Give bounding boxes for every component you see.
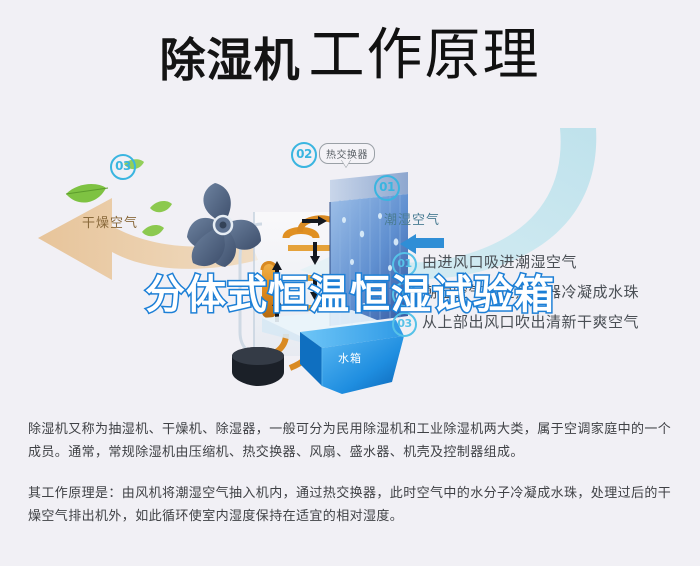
legend-item-01: 01 由进风口吸进潮湿空气 — [392, 249, 692, 279]
page-title: 除湿机工作原理 — [0, 28, 700, 84]
legend-text-01: 由进风口吸进潮湿空气 — [422, 251, 577, 272]
leaf-icon — [142, 225, 164, 236]
body-copy: 除湿机又称为抽湿机、干燥机、除湿器，一般可分为民用除湿机和工业除湿机两大类，属于… — [28, 418, 678, 528]
dehumidifier-infographic: 除湿机工作原理 — [0, 0, 700, 566]
page-title-emphasis: 除湿机 — [160, 33, 301, 87]
page-title-main: 工作原理 — [309, 23, 541, 88]
leaf-icon — [66, 184, 108, 203]
badge-03: 03 — [110, 154, 136, 180]
body-paragraph-2: 其工作原理是：由风机将潮湿空气抽入机内，通过热交换器，此时空气中的水分子冷凝成水… — [28, 482, 678, 528]
compressor — [232, 347, 284, 386]
badge-01: 01 — [374, 175, 400, 201]
label-water-tank: 水箱 — [338, 350, 362, 366]
leaf-icon — [150, 201, 172, 212]
callout-tail-icon — [341, 159, 351, 167]
legend-number-01: 01 — [392, 252, 417, 277]
legend-number-03: 03 — [392, 312, 417, 337]
legend-text-02: 潮湿空气经过蒸发器冷凝成水珠 — [422, 281, 639, 302]
legend-number-02: 02 — [392, 282, 417, 307]
legend-item-03: 03 从上部出风口吹出清新干爽空气 — [392, 309, 692, 339]
badge-02: 02 — [291, 142, 317, 168]
legend-item-02: 02 潮湿空气经过蒸发器冷凝成水珠 — [392, 279, 692, 309]
label-dry-air: 干燥空气 — [82, 212, 138, 231]
legend-list: 01 由进风口吸进潮湿空气 02 潮湿空气经过蒸发器冷凝成水珠 03 从上部出风… — [392, 249, 692, 339]
label-moist-air: 潮湿空气 — [384, 209, 440, 228]
body-paragraph-1: 除湿机又称为抽湿机、干燥机、除湿器，一般可分为民用除湿机和工业除湿机两大类，属于… — [28, 418, 678, 464]
legend-text-03: 从上部出风口吹出清新干爽空气 — [422, 311, 639, 332]
